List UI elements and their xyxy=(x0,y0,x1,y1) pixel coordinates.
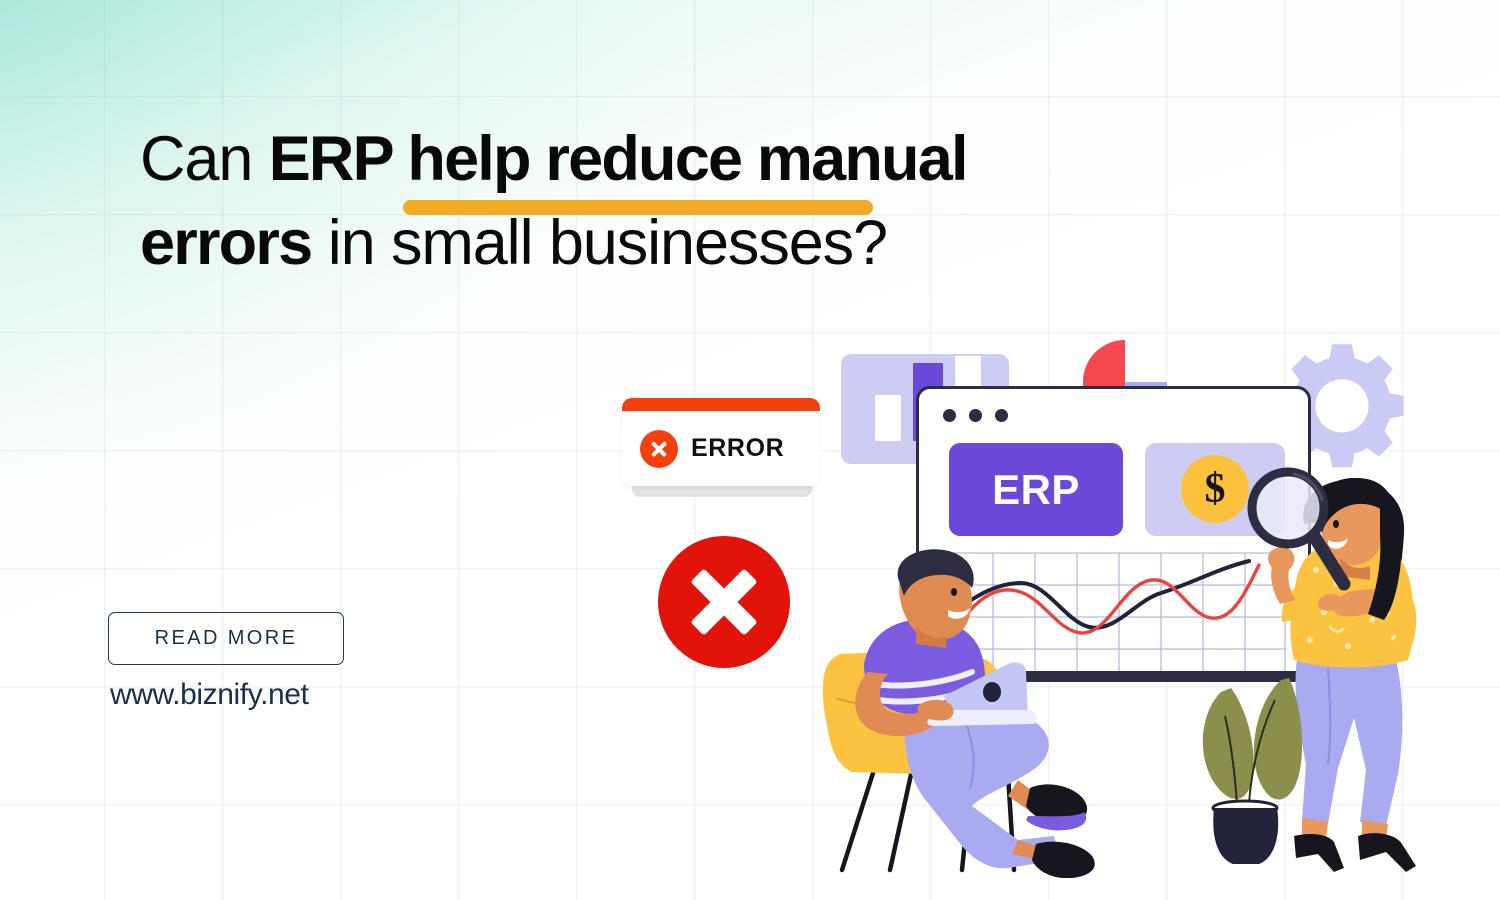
headline-bold-1: ERP help reduce manual xyxy=(269,124,967,194)
man-shoe-2 xyxy=(1032,842,1095,878)
read-more-button[interactable]: READ MORE xyxy=(108,612,344,665)
headline-bold-2: errors xyxy=(140,208,311,278)
man-with-laptop xyxy=(812,548,1112,878)
window-controls xyxy=(943,409,1008,422)
circle-x-icon xyxy=(640,430,678,468)
error-card-body: ERROR xyxy=(622,411,820,486)
pot-body xyxy=(1213,808,1278,864)
plant-leaf-left xyxy=(1203,688,1254,799)
erp-tile-label: ERP xyxy=(992,466,1080,514)
window-dot-3 xyxy=(995,409,1008,422)
banner-canvas: Can ERP help reduce manual errors in sma… xyxy=(0,0,1500,900)
large-error-x-icon xyxy=(658,536,790,668)
laptop-camera xyxy=(983,682,1001,702)
headline-line-1: Can ERP help reduce manual xyxy=(140,118,1150,202)
man-eye xyxy=(951,588,957,596)
website-url[interactable]: www.biznify.net xyxy=(110,678,309,712)
headline-plain-1: Can xyxy=(140,124,269,194)
error-label: ERROR xyxy=(691,434,784,463)
read-more-label: READ MORE xyxy=(155,627,298,650)
headline-plain-2: in small businesses? xyxy=(311,208,887,278)
page-title: Can ERP help reduce manual errors in sma… xyxy=(140,118,1150,286)
window-dot-1 xyxy=(943,409,956,422)
error-notification-card: ERROR xyxy=(622,398,820,486)
potted-plant xyxy=(1185,676,1315,866)
erp-tile: ERP xyxy=(949,443,1123,536)
error-card-accent-bar xyxy=(622,398,820,411)
coin-symbol: $ xyxy=(1205,465,1226,513)
window-dot-2 xyxy=(969,409,982,422)
bar-1 xyxy=(875,395,901,441)
magnifier-handle xyxy=(1314,536,1344,584)
website-url-label: www.biznify.net xyxy=(110,678,309,711)
magnifier-icon xyxy=(1232,466,1362,606)
headline-line-2: errors in small businesses? xyxy=(140,202,1150,286)
woman-heel-2 xyxy=(1358,833,1416,872)
error-card-stack-shadow xyxy=(632,486,812,497)
